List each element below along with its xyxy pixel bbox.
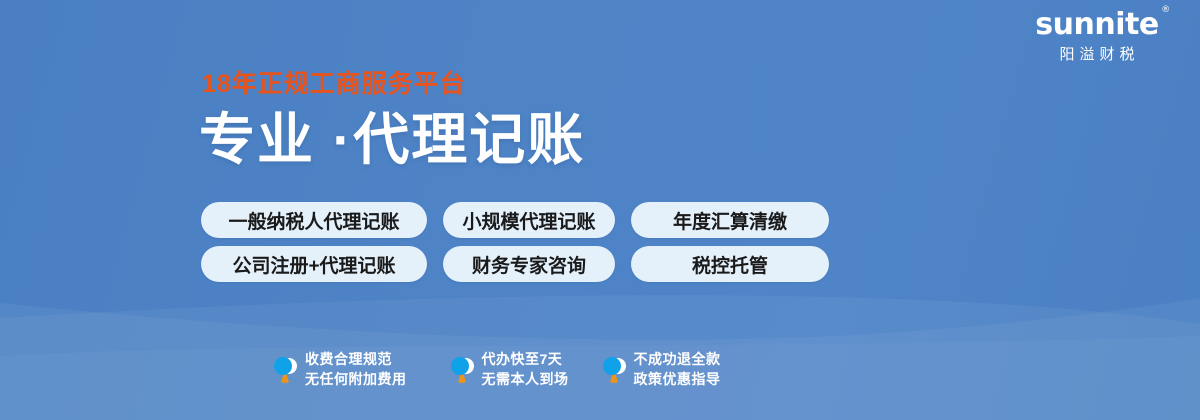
service-pill-general-taxpayer[interactable]: 一般纳税人代理记账 (201, 202, 427, 238)
service-pill-company-registration[interactable]: 公司注册+代理记账 (201, 246, 427, 282)
tagline: 18年正规工商服务平台 (202, 72, 585, 97)
blue-orange-dot-icon (601, 354, 627, 384)
feature-text: 收费合理规范 无任何附加费用 (305, 349, 407, 390)
feature-item: 不成功退全款 政策优惠指导 (601, 349, 721, 390)
feature-item: 收费合理规范 无任何附加费用 (272, 349, 407, 390)
feature-strip: 收费合理规范 无任何附加费用 代办快至7天 无需本人到场 不成功退全款 (272, 349, 721, 390)
service-pill-grid: 一般纳税人代理记账 小规模代理记账 年度汇算清缴 公司注册+代理记账 财务专家咨… (201, 202, 829, 282)
service-pill-row: 一般纳税人代理记账 小规模代理记账 年度汇算清缴 (201, 202, 829, 238)
blue-orange-dot-icon (449, 354, 475, 384)
feature-item: 代办快至7天 无需本人到场 (449, 349, 569, 390)
headline-block: 18年正规工商服务平台 专业 ·代理记账 (199, 72, 585, 170)
logo-subtitle: 阳溢财税 (1012, 47, 1182, 62)
service-pill-small-scale[interactable]: 小规模代理记账 (443, 202, 615, 238)
feature-text: 不成功退全款 政策优惠指导 (634, 349, 721, 390)
feature-line-2: 无需本人到场 (482, 369, 569, 389)
brand-logo: sunnite ® 阳溢财税 (1012, 10, 1182, 62)
service-pill-annual-settlement[interactable]: 年度汇算清缴 (631, 202, 829, 238)
page-title: 专业 ·代理记账 (199, 111, 585, 170)
registered-trademark-icon: ® (1161, 6, 1170, 15)
logo-wordmark-text: sunnite (1035, 7, 1158, 42)
feature-text: 代办快至7天 无需本人到场 (482, 349, 569, 390)
service-pill-expert-consulting[interactable]: 财务专家咨询 (443, 246, 615, 282)
feature-line-2: 无任何附加费用 (305, 369, 407, 389)
blue-orange-dot-icon (272, 354, 298, 384)
service-pill-tax-control-hosting[interactable]: 税控托管 (631, 246, 829, 282)
feature-line-1: 收费合理规范 (305, 349, 407, 369)
promo-banner: sunnite ® 阳溢财税 18年正规工商服务平台 专业 ·代理记账 一般纳税… (0, 0, 1200, 420)
service-pill-row: 公司注册+代理记账 财务专家咨询 税控托管 (201, 246, 829, 282)
logo-wordmark: sunnite ® (1035, 10, 1158, 40)
feature-line-1: 不成功退全款 (634, 349, 721, 369)
feature-line-1: 代办快至7天 (482, 349, 569, 369)
feature-line-2: 政策优惠指导 (634, 369, 721, 389)
